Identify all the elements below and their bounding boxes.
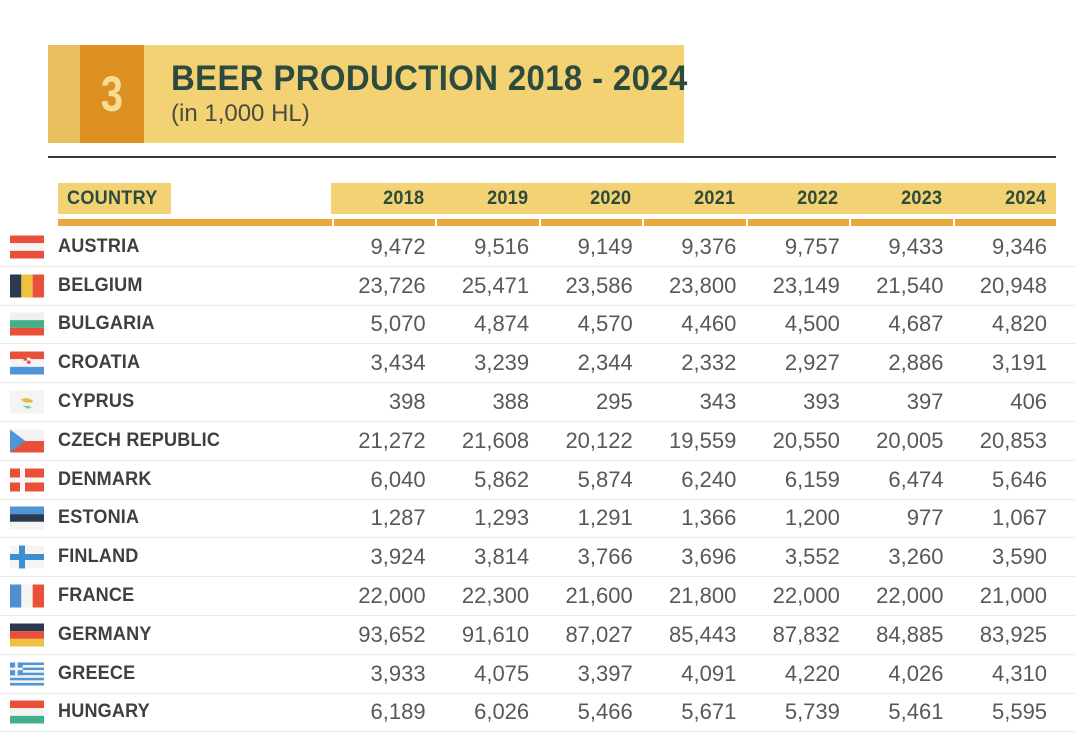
flag-germany-icon (10, 623, 44, 646)
cell-2023: 22,000 (849, 583, 953, 609)
cell-2024: 20,853 (952, 428, 1056, 454)
cell-2023: 397 (849, 389, 953, 415)
flag-bulgaria-icon (10, 313, 44, 336)
cell-2024: 3,590 (952, 544, 1056, 570)
column-header-year-2021: 2021 (642, 183, 746, 214)
cell-2021: 19,559 (642, 428, 746, 454)
cell-2022: 87,832 (745, 622, 849, 648)
table-header-underline (58, 219, 1056, 226)
cell-2020: 3,766 (538, 544, 642, 570)
table-row: GREECE3,9334,0753,3974,0914,2204,0264,31… (0, 655, 1076, 694)
cell-2024: 1,067 (952, 505, 1056, 531)
cell-2019: 3,239 (435, 350, 539, 376)
cell-2018: 3,933 (331, 661, 435, 687)
cell-2018: 22,000 (331, 583, 435, 609)
flag-denmark-icon (10, 468, 44, 491)
row-values: 9,4729,5169,1499,3769,7579,4339,346 (331, 234, 1056, 260)
table-row: CYPRUS398388295343393397406 (0, 383, 1076, 422)
cell-2021: 4,460 (642, 311, 746, 337)
cell-2018: 6,189 (331, 699, 435, 725)
cell-2020: 295 (538, 389, 642, 415)
cell-2022: 6,159 (745, 467, 849, 493)
cell-2023: 4,687 (849, 311, 953, 337)
country-name: AUSTRIA (58, 236, 140, 258)
cell-2018: 23,726 (331, 273, 435, 299)
underline-segment (58, 219, 332, 226)
row-values: 93,65291,61087,02785,44387,83284,88583,9… (331, 622, 1056, 648)
cell-2024: 406 (952, 389, 1056, 415)
cell-2021: 4,091 (642, 661, 746, 687)
cell-2018: 1,287 (331, 505, 435, 531)
banner-text-block: BEER PRODUCTION 2018 - 2024 (in 1,000 HL… (144, 45, 721, 143)
report-banner: 3 BEER PRODUCTION 2018 - 2024 (in 1,000 … (48, 45, 684, 143)
cell-2020: 23,586 (538, 273, 642, 299)
row-values: 3,9243,8143,7663,6963,5523,2603,590 (331, 544, 1056, 570)
row-values: 21,27221,60820,12219,55920,55020,00520,8… (331, 428, 1056, 454)
country-name: CROATIA (58, 352, 140, 374)
cell-2022: 22,000 (745, 583, 849, 609)
cell-2019: 5,862 (435, 467, 539, 493)
column-header-year-2023: 2023 (849, 183, 953, 214)
cell-2022: 4,500 (745, 311, 849, 337)
table-top-rule (48, 156, 1056, 158)
row-values: 398388295343393397406 (331, 389, 1056, 415)
flag-belgium-icon (10, 274, 44, 297)
cell-2021: 343 (642, 389, 746, 415)
cell-2022: 23,149 (745, 273, 849, 299)
country-name: BULGARIA (58, 313, 155, 335)
table-row: CROATIA3,4343,2392,3442,3322,9272,8863,1… (0, 344, 1076, 383)
cell-2022: 20,550 (745, 428, 849, 454)
cell-2018: 3,434 (331, 350, 435, 376)
cell-2024: 4,820 (952, 311, 1056, 337)
column-header-year-label: 2020 (590, 188, 631, 210)
cell-2022: 5,739 (745, 699, 849, 725)
cell-2022: 1,200 (745, 505, 849, 531)
cell-2024: 5,646 (952, 467, 1056, 493)
column-header-year-2024: 2024 (952, 183, 1056, 214)
cell-2018: 398 (331, 389, 435, 415)
column-header-year-2018: 2018 (331, 183, 435, 214)
cell-2019: 6,026 (435, 699, 539, 725)
cell-2022: 2,927 (745, 350, 849, 376)
country-name: GREECE (58, 663, 135, 685)
country-name: BELGIUM (58, 275, 143, 297)
flag-cyprus-icon (10, 391, 44, 414)
cell-2022: 3,552 (745, 544, 849, 570)
banner-number: 3 (101, 69, 123, 119)
cell-2018: 93,652 (331, 622, 435, 648)
underline-segment (748, 219, 849, 226)
cell-2023: 977 (849, 505, 953, 531)
cell-2023: 2,886 (849, 350, 953, 376)
cell-2019: 3,814 (435, 544, 539, 570)
country-name: FINLAND (58, 546, 139, 568)
cell-2021: 5,671 (642, 699, 746, 725)
cell-2022: 4,220 (745, 661, 849, 687)
flag-austria-icon (10, 235, 44, 258)
cell-2019: 388 (435, 389, 539, 415)
underline-segment (334, 219, 435, 226)
cell-2018: 3,924 (331, 544, 435, 570)
cell-2021: 1,366 (642, 505, 746, 531)
cell-2020: 5,466 (538, 699, 642, 725)
country-name: GERMANY (58, 624, 152, 646)
underline-segment (541, 219, 642, 226)
row-values: 22,00022,30021,60021,80022,00022,00021,0… (331, 583, 1056, 609)
cell-2024: 20,948 (952, 273, 1056, 299)
cell-2020: 21,600 (538, 583, 642, 609)
cell-2020: 2,344 (538, 350, 642, 376)
cell-2019: 25,471 (435, 273, 539, 299)
flag-hungary-icon (10, 701, 44, 724)
column-header-year-label: 2018 (383, 188, 424, 210)
page-title: BEER PRODUCTION 2018 - 2024 (171, 61, 688, 97)
row-values: 6,1896,0265,4665,6715,7395,4615,595 (331, 699, 1056, 725)
cell-2023: 20,005 (849, 428, 953, 454)
cell-2018: 9,472 (331, 234, 435, 260)
row-values: 3,9334,0753,3974,0914,2204,0264,310 (331, 661, 1056, 687)
cell-2020: 87,027 (538, 622, 642, 648)
cell-2019: 4,874 (435, 311, 539, 337)
country-name: CZECH REPUBLIC (58, 430, 220, 452)
country-name: CYPRUS (58, 391, 134, 413)
table-row: FRANCE22,00022,30021,60021,80022,00022,0… (0, 577, 1076, 616)
row-values: 6,0405,8625,8746,2406,1596,4745,646 (331, 467, 1056, 493)
cell-2020: 3,397 (538, 661, 642, 687)
country-name: DENMARK (58, 469, 152, 491)
flag-estonia-icon (10, 507, 44, 530)
cell-2023: 4,026 (849, 661, 953, 687)
cell-2021: 9,376 (642, 234, 746, 260)
column-header-year-label: 2019 (487, 188, 528, 210)
banner-accent-strip (48, 45, 80, 143)
column-header-years: 2018201920202021202220232024 (331, 183, 1056, 214)
column-header-year-2020: 2020 (538, 183, 642, 214)
cell-2021: 23,800 (642, 273, 746, 299)
cell-2019: 22,300 (435, 583, 539, 609)
country-name: FRANCE (58, 585, 134, 607)
cell-2023: 3,260 (849, 544, 953, 570)
cell-2023: 6,474 (849, 467, 953, 493)
flag-czechia-icon (10, 429, 44, 452)
cell-2020: 1,291 (538, 505, 642, 531)
cell-2023: 9,433 (849, 234, 953, 260)
cell-2020: 4,570 (538, 311, 642, 337)
cell-2021: 6,240 (642, 467, 746, 493)
table-row: CZECH REPUBLIC21,27221,60820,12219,55920… (0, 422, 1076, 461)
cell-2019: 9,516 (435, 234, 539, 260)
cell-2023: 5,461 (849, 699, 953, 725)
column-header-country-label: COUNTRY (67, 188, 158, 210)
cell-2024: 21,000 (952, 583, 1056, 609)
cell-2024: 9,346 (952, 234, 1056, 260)
table-row: DENMARK6,0405,8625,8746,2406,1596,4745,6… (0, 461, 1076, 500)
table-row: HUNGARY6,1896,0265,4665,6715,7395,4615,5… (0, 694, 1076, 732)
flag-finland-icon (10, 546, 44, 569)
cell-2022: 393 (745, 389, 849, 415)
cell-2019: 21,608 (435, 428, 539, 454)
table-body: AUSTRIA9,4729,5169,1499,3769,7579,4339,3… (0, 228, 1076, 732)
cell-2018: 5,070 (331, 311, 435, 337)
cell-2024: 5,595 (952, 699, 1056, 725)
table-row: ESTONIA1,2871,2931,2911,3661,2009771,067 (0, 500, 1076, 539)
column-header-year-label: 2021 (694, 188, 735, 210)
banner-number-block: 3 (80, 45, 144, 143)
column-header-year-label: 2023 (901, 188, 942, 210)
column-header-country: COUNTRY (58, 183, 171, 214)
column-header-year-label: 2024 (1005, 188, 1046, 210)
underline-segment (851, 219, 952, 226)
row-values: 3,4343,2392,3442,3322,9272,8863,191 (331, 350, 1056, 376)
underline-segment (955, 219, 1056, 226)
column-header-year-2019: 2019 (435, 183, 539, 214)
table-row: AUSTRIA9,4729,5169,1499,3769,7579,4339,3… (0, 228, 1076, 267)
table-row: BELGIUM23,72625,47123,58623,80023,14921,… (0, 267, 1076, 306)
cell-2019: 1,293 (435, 505, 539, 531)
flag-croatia-icon (10, 352, 44, 375)
column-header-year-2022: 2022 (745, 183, 849, 214)
table-row: BULGARIA5,0704,8744,5704,4604,5004,6874,… (0, 306, 1076, 345)
country-name: ESTONIA (58, 507, 139, 529)
cell-2018: 21,272 (331, 428, 435, 454)
cell-2019: 4,075 (435, 661, 539, 687)
table-row: GERMANY93,65291,61087,02785,44387,83284,… (0, 616, 1076, 655)
cell-2021: 3,696 (642, 544, 746, 570)
row-values: 1,2871,2931,2911,3661,2009771,067 (331, 505, 1056, 531)
country-name: HUNGARY (58, 701, 150, 723)
underline-segment (437, 219, 538, 226)
page-subtitle: (in 1,000 HL) (171, 101, 721, 127)
cell-2021: 85,443 (642, 622, 746, 648)
cell-2023: 84,885 (849, 622, 953, 648)
flag-france-icon (10, 585, 44, 608)
table-row: FINLAND3,9243,8143,7663,6963,5523,2603,5… (0, 538, 1076, 577)
cell-2019: 91,610 (435, 622, 539, 648)
row-values: 5,0704,8744,5704,4604,5004,6874,820 (331, 311, 1056, 337)
cell-2021: 2,332 (642, 350, 746, 376)
flag-greece-icon (10, 662, 44, 685)
cell-2024: 3,191 (952, 350, 1056, 376)
cell-2024: 4,310 (952, 661, 1056, 687)
cell-2020: 9,149 (538, 234, 642, 260)
underline-segment (644, 219, 745, 226)
column-header-year-label: 2022 (798, 188, 839, 210)
cell-2020: 20,122 (538, 428, 642, 454)
cell-2021: 21,800 (642, 583, 746, 609)
cell-2022: 9,757 (745, 234, 849, 260)
cell-2018: 6,040 (331, 467, 435, 493)
cell-2020: 5,874 (538, 467, 642, 493)
cell-2024: 83,925 (952, 622, 1056, 648)
row-values: 23,72625,47123,58623,80023,14921,54020,9… (331, 273, 1056, 299)
cell-2023: 21,540 (849, 273, 953, 299)
